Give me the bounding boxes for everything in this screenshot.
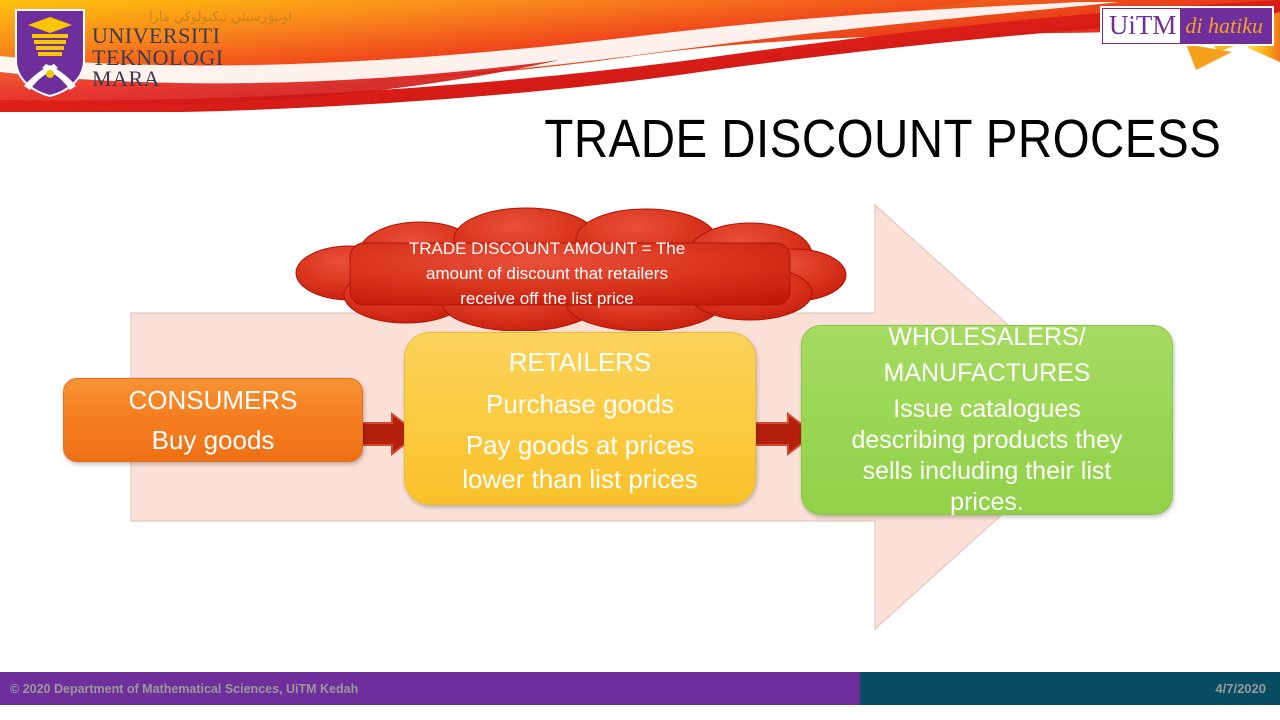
callout-text: TRADE DISCOUNT AMOUNT = The amount of di…: [352, 236, 742, 311]
flow-stage-wholesalers-heading-line-2: MANUFACTURES: [802, 358, 1172, 388]
uitm-wordmark-line-1: UNIVERSITI: [92, 25, 292, 47]
flow-stage-consumers-heading: CONSUMERS: [64, 380, 362, 420]
flow-stage-consumers[interactable]: CONSUMERS Buy goods: [63, 378, 363, 462]
footer-copyright: © 2020 Department of Mathematical Scienc…: [0, 682, 358, 696]
footer-date: 4/7/2020: [1215, 681, 1280, 696]
flow-stage-wholesalers-line-4: prices.: [802, 487, 1172, 518]
flow-stage-retailers-line-3: lower than list prices: [405, 462, 755, 496]
flow-stage-consumers-line-1: Buy goods: [64, 420, 362, 460]
flow-stage-wholesalers-heading-line-1: WHOLESALERS/: [802, 322, 1172, 352]
flow-stage-retailers-line-2: Pay goods at prices: [405, 428, 755, 462]
uitm-crest-icon: [14, 8, 86, 98]
footer-right-bar: 4/7/2020: [860, 672, 1280, 705]
slide-footer: © 2020 Department of Mathematical Scienc…: [0, 672, 1280, 705]
flow-stage-wholesalers-line-3: sells including their list: [802, 456, 1172, 487]
uitm-logo-text: UiTM: [1103, 9, 1181, 43]
flow-stage-retailers-line-1: Purchase goods: [405, 384, 755, 424]
flow-stage-wholesalers-line-2: describing products they: [802, 425, 1172, 456]
uitm-wordmark: اونيۏرسيتي تيكنولوڬي مارا UNIVERSITI TEK…: [92, 10, 292, 96]
flow-stage-retailers[interactable]: RETAILERS Purchase goods Pay goods at pr…: [404, 332, 756, 505]
page-title: TRADE DISCOUNT PROCESS: [544, 108, 1195, 170]
uitm-wordmark-line-3: MARA: [92, 68, 292, 90]
footer-left-bar: © 2020 Department of Mathematical Scienc…: [0, 672, 860, 705]
callout-line-2: amount of discount that retailers: [352, 261, 742, 286]
slide-canvas: اونيۏرسيتي تيكنولوڬي مارا UNIVERSITI TEK…: [0, 0, 1280, 720]
uitm-wordmark-line-2: TEKNOLOGI: [92, 47, 292, 69]
callout-line-1: TRADE DISCOUNT AMOUNT = The: [352, 236, 742, 261]
uitm-di-hatiku-logo: UiTM di hatiku: [1102, 8, 1272, 44]
flow-stage-wholesalers-line-1: Issue catalogues: [802, 394, 1172, 425]
uitm-logo-tagline: di hatiku: [1180, 9, 1271, 43]
flow-stage-retailers-heading: RETAILERS: [405, 342, 755, 382]
callout-line-3: receive off the list price: [352, 286, 742, 311]
flow-stage-wholesalers[interactable]: WHOLESALERS/ MANUFACTURES Issue catalogu…: [801, 325, 1173, 515]
